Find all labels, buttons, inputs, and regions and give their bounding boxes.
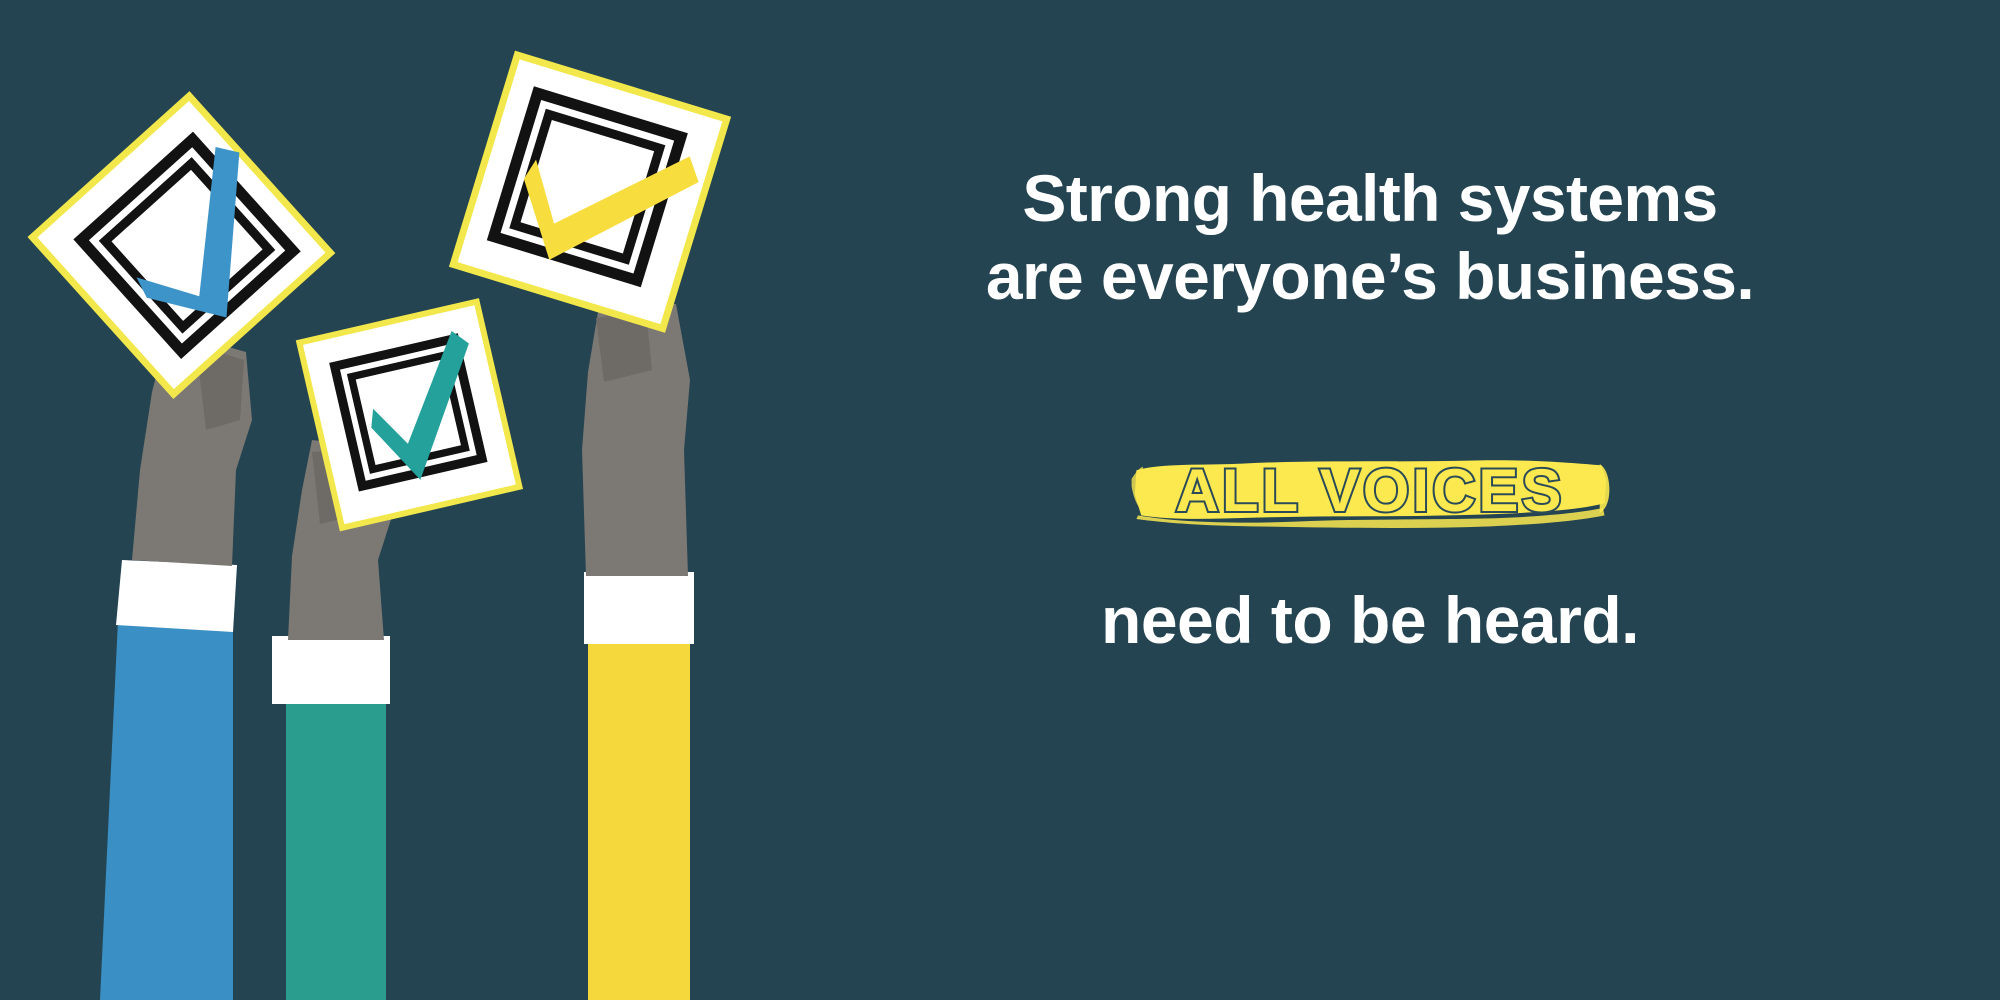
highlight-container: ALL VOICES — [1130, 452, 1611, 531]
highlight-row: ALL VOICES — [820, 452, 1920, 531]
cuff-left — [116, 560, 237, 632]
headline-line-1: Strong health systems — [1022, 161, 1717, 235]
ballot-card-blue — [27, 91, 335, 399]
hand-middle-group — [272, 298, 523, 1000]
highlight-text: ALL VOICES — [1176, 460, 1565, 521]
headline: Strong health systems are everyone’s bus… — [820, 160, 1920, 316]
ballot-card-yellow — [449, 51, 731, 333]
sleeve-blue — [100, 620, 233, 1000]
sleeve-yellow — [588, 640, 690, 1000]
message-block: Strong health systems are everyone’s bus… — [820, 0, 2000, 1000]
sleeve-teal — [286, 700, 386, 1000]
poster-canvas: Strong health systems are everyone’s bus… — [0, 0, 2000, 1000]
cuff-right — [584, 572, 694, 644]
ballot-hands-illustration — [0, 0, 820, 1000]
headline-line-2: are everyone’s business. — [820, 238, 1920, 316]
cuff-middle — [272, 636, 390, 704]
hand-right-group — [449, 51, 731, 1000]
subline: need to be heard. — [820, 582, 1920, 658]
